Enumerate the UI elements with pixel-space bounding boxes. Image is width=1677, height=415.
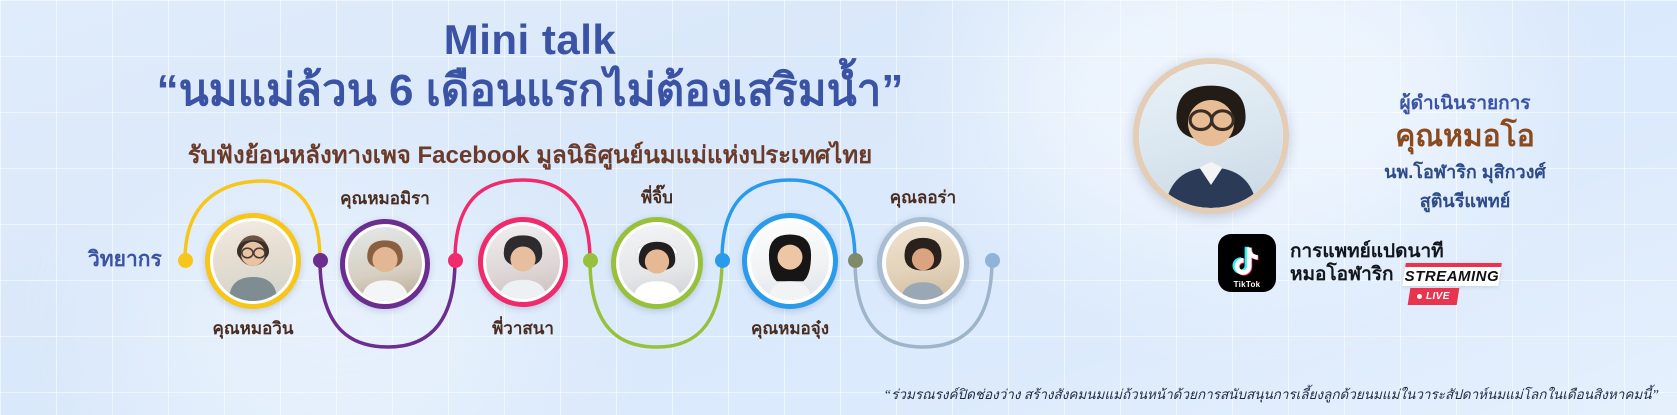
speaker-avatar-2 — [340, 219, 430, 309]
person-silhouette-icon — [1139, 64, 1283, 208]
speaker-avatar-5 — [742, 213, 838, 309]
speaker-timeline: วิทยากร — [0, 175, 1060, 350]
person-silhouette-icon — [886, 226, 960, 300]
avatar-photo — [348, 227, 422, 301]
speaker-avatar-4 — [611, 217, 703, 309]
speaker-name-1: คุณหมอวิน — [133, 315, 373, 342]
avatar-photo — [213, 221, 293, 301]
avatar-photo — [751, 222, 829, 300]
live-badge: LIVE — [1408, 288, 1460, 305]
channel-name-line1: การแพทย์แปดนาที — [1290, 240, 1444, 263]
streaming-label: STREAMING — [1404, 268, 1499, 285]
live-label: LIVE — [1426, 291, 1450, 302]
avatar-photo — [886, 226, 960, 300]
timeline-dot-start — [178, 253, 193, 268]
speaker-avatar-1 — [205, 213, 301, 309]
footer-note: “ร่วมรณรงค์ปิดช่องว่าง สร้างสังคมนมแม่ถ้… — [0, 383, 1659, 405]
title-quote: “นมแม่ล้วน 6 เดือนแรกไม่ต้องเสริมน้ำ” — [0, 66, 1060, 117]
host-photo-inner — [1139, 64, 1283, 208]
timeline-dot-3 — [583, 253, 598, 268]
tiktok-wordmark: TikTok — [1218, 280, 1276, 289]
tiktok-icon[interactable]: TikTok — [1218, 234, 1276, 292]
timeline-dot-5 — [848, 253, 863, 268]
person-silhouette-icon — [348, 227, 422, 301]
avatar-photo — [619, 225, 695, 301]
speaker-name-6: คุณลอร่า — [803, 184, 1043, 211]
live-dot-icon — [1417, 294, 1422, 299]
speaker-name-3: พี่วาสนา — [403, 315, 643, 342]
speaker-name-2: คุณหมอมิรา — [265, 185, 505, 212]
speaker-avatar-3 — [478, 217, 568, 307]
host-info: ผู้ดำเนินรายการ คุณหมอโอ นพ.โอฬาริก มุสิ… — [1300, 88, 1630, 215]
speaker-name-5: คุณหมอจุ๋ง — [670, 315, 910, 342]
person-silhouette-icon — [751, 222, 829, 300]
host-specialty: สูตินรีแพทย์ — [1300, 186, 1630, 215]
timeline-dot-1 — [313, 253, 328, 268]
person-silhouette-icon — [486, 225, 560, 299]
timeline-dot-end — [985, 253, 1000, 268]
speaker-avatar-6 — [877, 217, 969, 309]
timeline-dot-4 — [715, 253, 730, 268]
host-role: ผู้ดำเนินรายการ — [1300, 88, 1630, 118]
speaker-name-4: พี่จิ๊บ — [537, 184, 777, 211]
streaming-badge: STREAMING — [1402, 263, 1502, 286]
header-block: Mini talk “นมแม่ล้วน 6 เดือนแรกไม่ต้องเส… — [0, 18, 1060, 174]
subtitle: รับฟังย้อนหลังทางเพจ Facebook มูลนิธิศูน… — [0, 135, 1060, 174]
page-title: Mini talk — [0, 18, 1060, 62]
host-nickname: คุณหมอโอ — [1300, 120, 1630, 153]
person-silhouette-icon — [213, 221, 293, 301]
tiktok-note-glyph — [1232, 245, 1262, 277]
avatar-photo — [486, 225, 560, 299]
timeline-dot-2 — [448, 253, 463, 268]
host-fullname: นพ.โอฬาริก มุสิกวงศ์ — [1300, 157, 1630, 186]
mini-talk-banner: Mini talk “นมแม่ล้วน 6 เดือนแรกไม่ต้องเส… — [0, 0, 1677, 415]
person-silhouette-icon — [619, 225, 695, 301]
host-avatar — [1133, 58, 1289, 214]
